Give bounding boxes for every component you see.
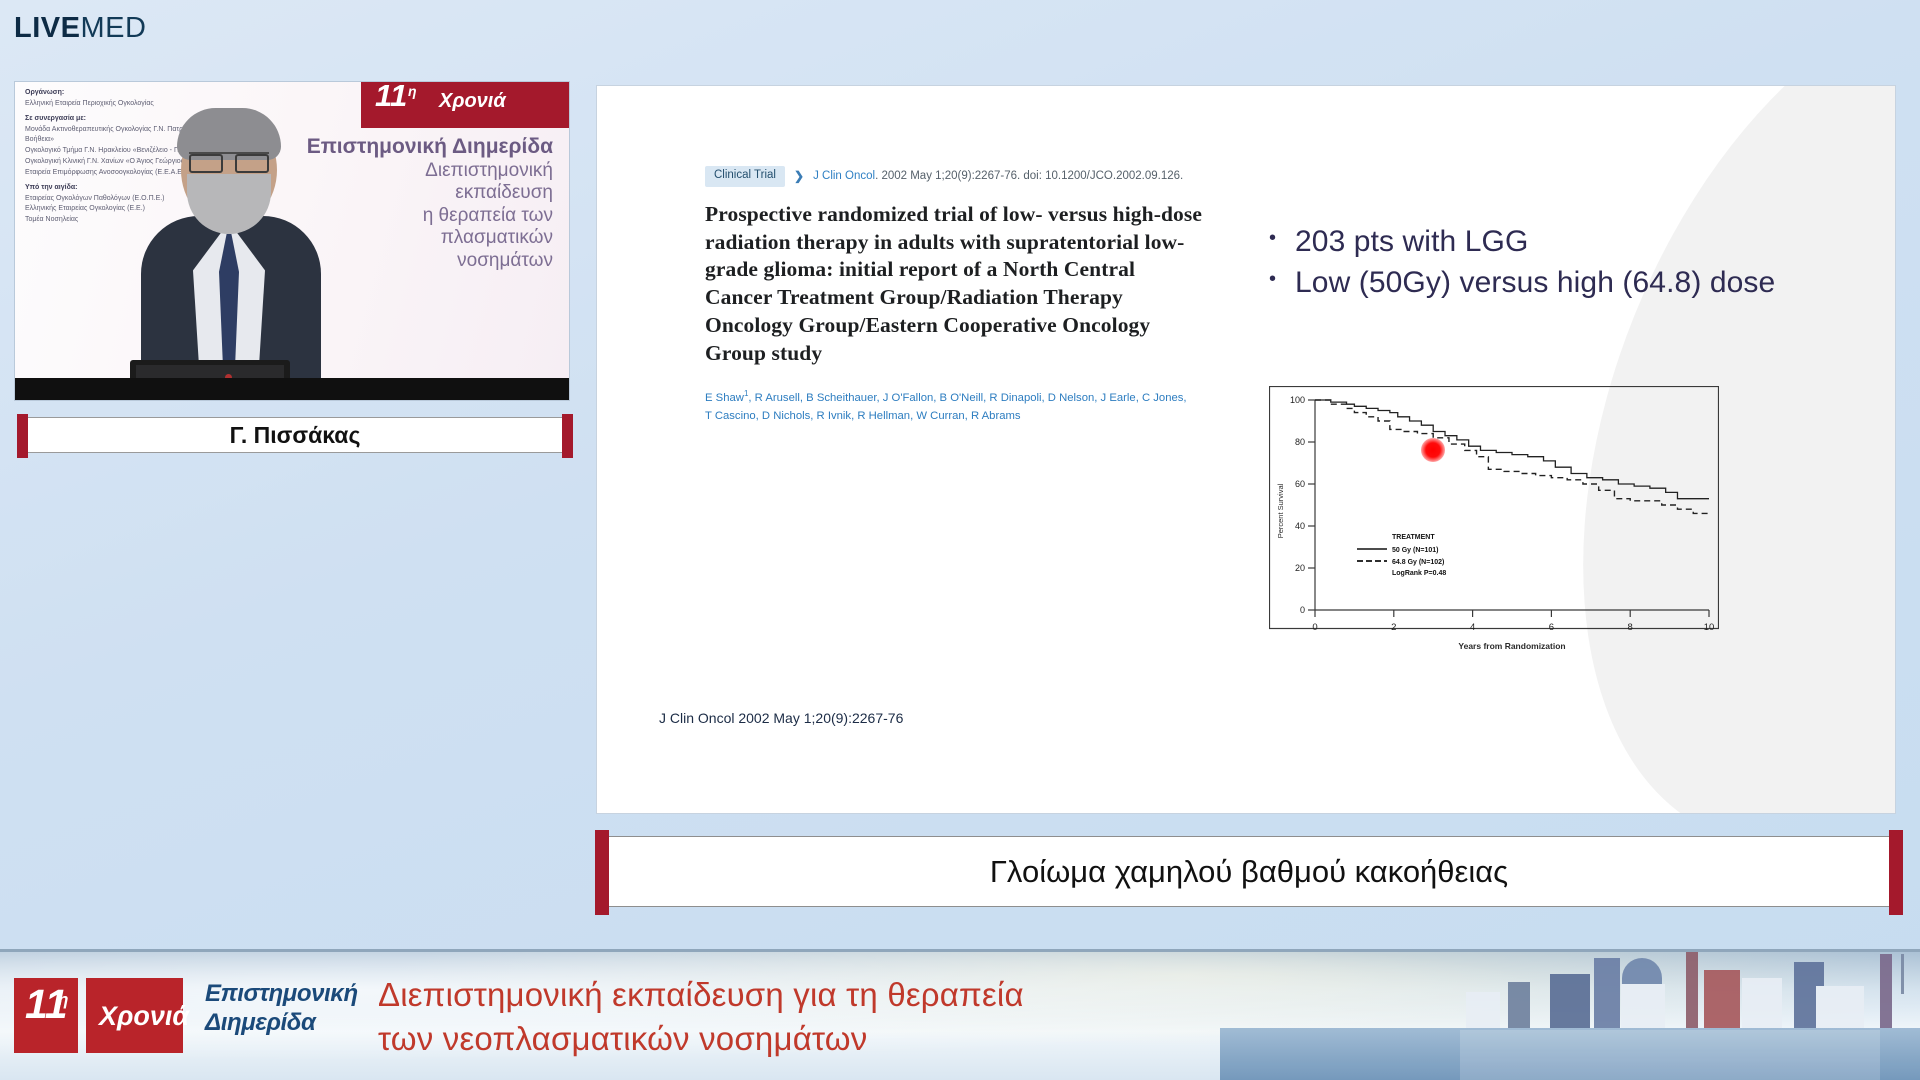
legend-title: TREATMENT xyxy=(1392,534,1435,541)
video-badge-sup: η xyxy=(408,83,417,99)
speaker-name: Γ. Πισσάκας xyxy=(230,422,361,449)
kaplan-meier-chart: 020406080100 0246810 Percent Survival Ye… xyxy=(1269,386,1719,656)
bullet-marker-icon: • xyxy=(1269,222,1295,254)
banner-top-divider xyxy=(0,949,1920,952)
x-tick-label: 0 xyxy=(1312,622,1317,633)
publication-type-badge: Clinical Trial xyxy=(705,166,785,187)
x-tick-label: 2 xyxy=(1391,622,1396,633)
banner-event-type: Επιστημονική Διημερίδα xyxy=(205,979,358,1038)
video-subtitle-line: Διεπιστημονική xyxy=(303,160,553,182)
banner-badge-word: Χρονιά xyxy=(99,1001,189,1032)
video-badge-number: 11 xyxy=(375,81,407,114)
chevron-right-icon: ❯ xyxy=(794,169,804,183)
slide-title-text: Γλοίωμα χαμηλού βαθμού κακοήθειας xyxy=(990,854,1508,890)
x-tick-label: 10 xyxy=(1704,622,1715,633)
authors-rest-line1: , R Arusell, B Scheithauer, J O'Fallon, … xyxy=(748,392,1186,404)
banner-title-line2: των νεοπλασματικών νοσημάτων xyxy=(378,1017,1024,1061)
title-band-right-edge xyxy=(1889,830,1903,915)
y-tick-label: 40 xyxy=(1295,521,1305,531)
x-tick-label: 4 xyxy=(1470,622,1475,633)
banner-anniversary-badge: 11 η xyxy=(14,978,78,1053)
video-subtitle-line: πλασματικών xyxy=(303,227,553,249)
y-tick-label: 80 xyxy=(1295,437,1305,447)
chart-legend: TREATMENT 50 Gy (N=101) 64.8 Gy (N=102) … xyxy=(1357,534,1446,577)
legend-label-50gy: 50 Gy (N=101) xyxy=(1392,547,1439,554)
km-chart-svg: 020406080100 0246810 Percent Survival Ye… xyxy=(1269,386,1719,656)
banner-title-line1: Διεπιστημονική εκπαίδευση για τη θεραπεί… xyxy=(378,973,1024,1017)
banner-harbour-illustration xyxy=(1220,952,1920,1080)
speaker-glasses xyxy=(189,152,269,169)
y-tick-label: 0 xyxy=(1300,605,1305,615)
legend-label-648gy: 64.8 Gy (N=102) xyxy=(1392,559,1444,566)
bullet-item: • Low (50Gy) versus high (64.8) dose xyxy=(1269,263,1859,304)
paper-title: Prospective randomized trial of low- ver… xyxy=(705,201,1205,368)
speaker-video[interactable]: 11 η Χρονιά Επιστημονική Διημερίδα Διεπι… xyxy=(14,81,570,401)
video-slide-title: Επιστημονική Διημερίδα xyxy=(303,136,553,158)
livemed-logo: LIVEMED xyxy=(14,14,146,43)
y-axis-ticks: 020406080100 xyxy=(1290,395,1315,615)
y-axis-label: Percent Survival xyxy=(1276,483,1285,538)
journal-name[interactable]: J Clin Oncol xyxy=(813,170,875,182)
name-plate-right-edge xyxy=(562,414,573,458)
bullet-text: 203 pts with LGG xyxy=(1295,222,1528,263)
bullet-item: • 203 pts with LGG xyxy=(1269,222,1859,263)
bullet-marker-icon: • xyxy=(1269,263,1295,295)
video-subtitle-line: νοσημάτων xyxy=(303,250,553,272)
slide-bottom-citation: J Clin Oncol 2002 May 1;20(9):2267-76 xyxy=(659,710,903,726)
presentation-slide[interactable]: Clinical Trial ❯ J Clin Oncol. 2002 May … xyxy=(596,85,1896,814)
name-plate-left-edge xyxy=(17,414,28,458)
video-badge-word: Χρονιά xyxy=(439,90,506,113)
video-lower-bar xyxy=(15,378,569,400)
banner-badge-sup: η xyxy=(58,990,68,1010)
slide-title-band: Γλοίωμα χαμηλού βαθμού κακοήθειας xyxy=(602,836,1896,907)
y-tick-label: 100 xyxy=(1290,395,1305,405)
citation-meta: . 2002 May 1;20(9):2267-76. doi: 10.1200… xyxy=(875,170,1183,182)
logo-med: MED xyxy=(80,12,146,44)
speaker-figure xyxy=(135,108,325,401)
title-band-left-edge xyxy=(595,830,609,915)
banner-event-line2: Διημερίδα xyxy=(205,1008,358,1037)
x-tick-label: 8 xyxy=(1628,622,1633,633)
km-curve-648gy xyxy=(1315,400,1709,513)
video-slide-subtitle: Διεπιστημονική εκπαίδευση η θεραπεία των… xyxy=(303,160,553,272)
video-subtitle-line: η θεραπεία των xyxy=(303,205,553,227)
pubmed-record: Clinical Trial ❯ J Clin Oncol. 2002 May … xyxy=(705,166,1205,425)
x-tick-label: 6 xyxy=(1549,622,1554,633)
x-axis-ticks: 0246810 xyxy=(1312,610,1714,633)
authors-line2: T Cascino, D Nichols, R Ivnik, R Hellman… xyxy=(705,407,1205,425)
citation-line: Clinical Trial ❯ J Clin Oncol. 2002 May … xyxy=(705,166,1205,187)
first-author[interactable]: E Shaw xyxy=(705,392,744,404)
slide-bullet-list: • 203 pts with LGG • Low (50Gy) versus h… xyxy=(1269,222,1859,304)
x-axis-label: Years from Randomization xyxy=(1458,641,1565,651)
y-tick-label: 20 xyxy=(1295,563,1305,573)
legend-logrank-annotation: LogRank P=0.48 xyxy=(1392,570,1446,577)
chart-frame xyxy=(1270,387,1719,629)
conference-banner: 11 η Χρονιά Επιστημονική Διημερίδα Διεπι… xyxy=(0,949,1920,1080)
video-anniversary-badge: 11 η Χρονιά xyxy=(361,82,569,128)
banner-years-badge: Χρονιά xyxy=(86,978,183,1053)
km-curve-50gy xyxy=(1315,400,1709,499)
video-subtitle-line: εκπαίδευση xyxy=(303,182,553,204)
logo-live: LIVE xyxy=(14,12,80,44)
banner-main-title: Διεπιστημονική εκπαίδευση για τη θεραπεί… xyxy=(378,973,1024,1061)
speaker-video-panel[interactable]: 11 η Χρονιά Επιστημονική Διημερίδα Διεπι… xyxy=(14,81,570,401)
paper-authors: E Shaw1, R Arusell, B Scheithauer, J O'F… xyxy=(705,388,1205,425)
banner-event-line1: Επιστημονική xyxy=(205,979,358,1008)
bullet-text: Low (50Gy) versus high (64.8) dose xyxy=(1295,263,1775,304)
y-tick-label: 60 xyxy=(1295,479,1305,489)
speaker-name-plate: Γ. Πισσάκας xyxy=(22,417,568,453)
org-heading: Οργάνωση: xyxy=(25,88,235,99)
